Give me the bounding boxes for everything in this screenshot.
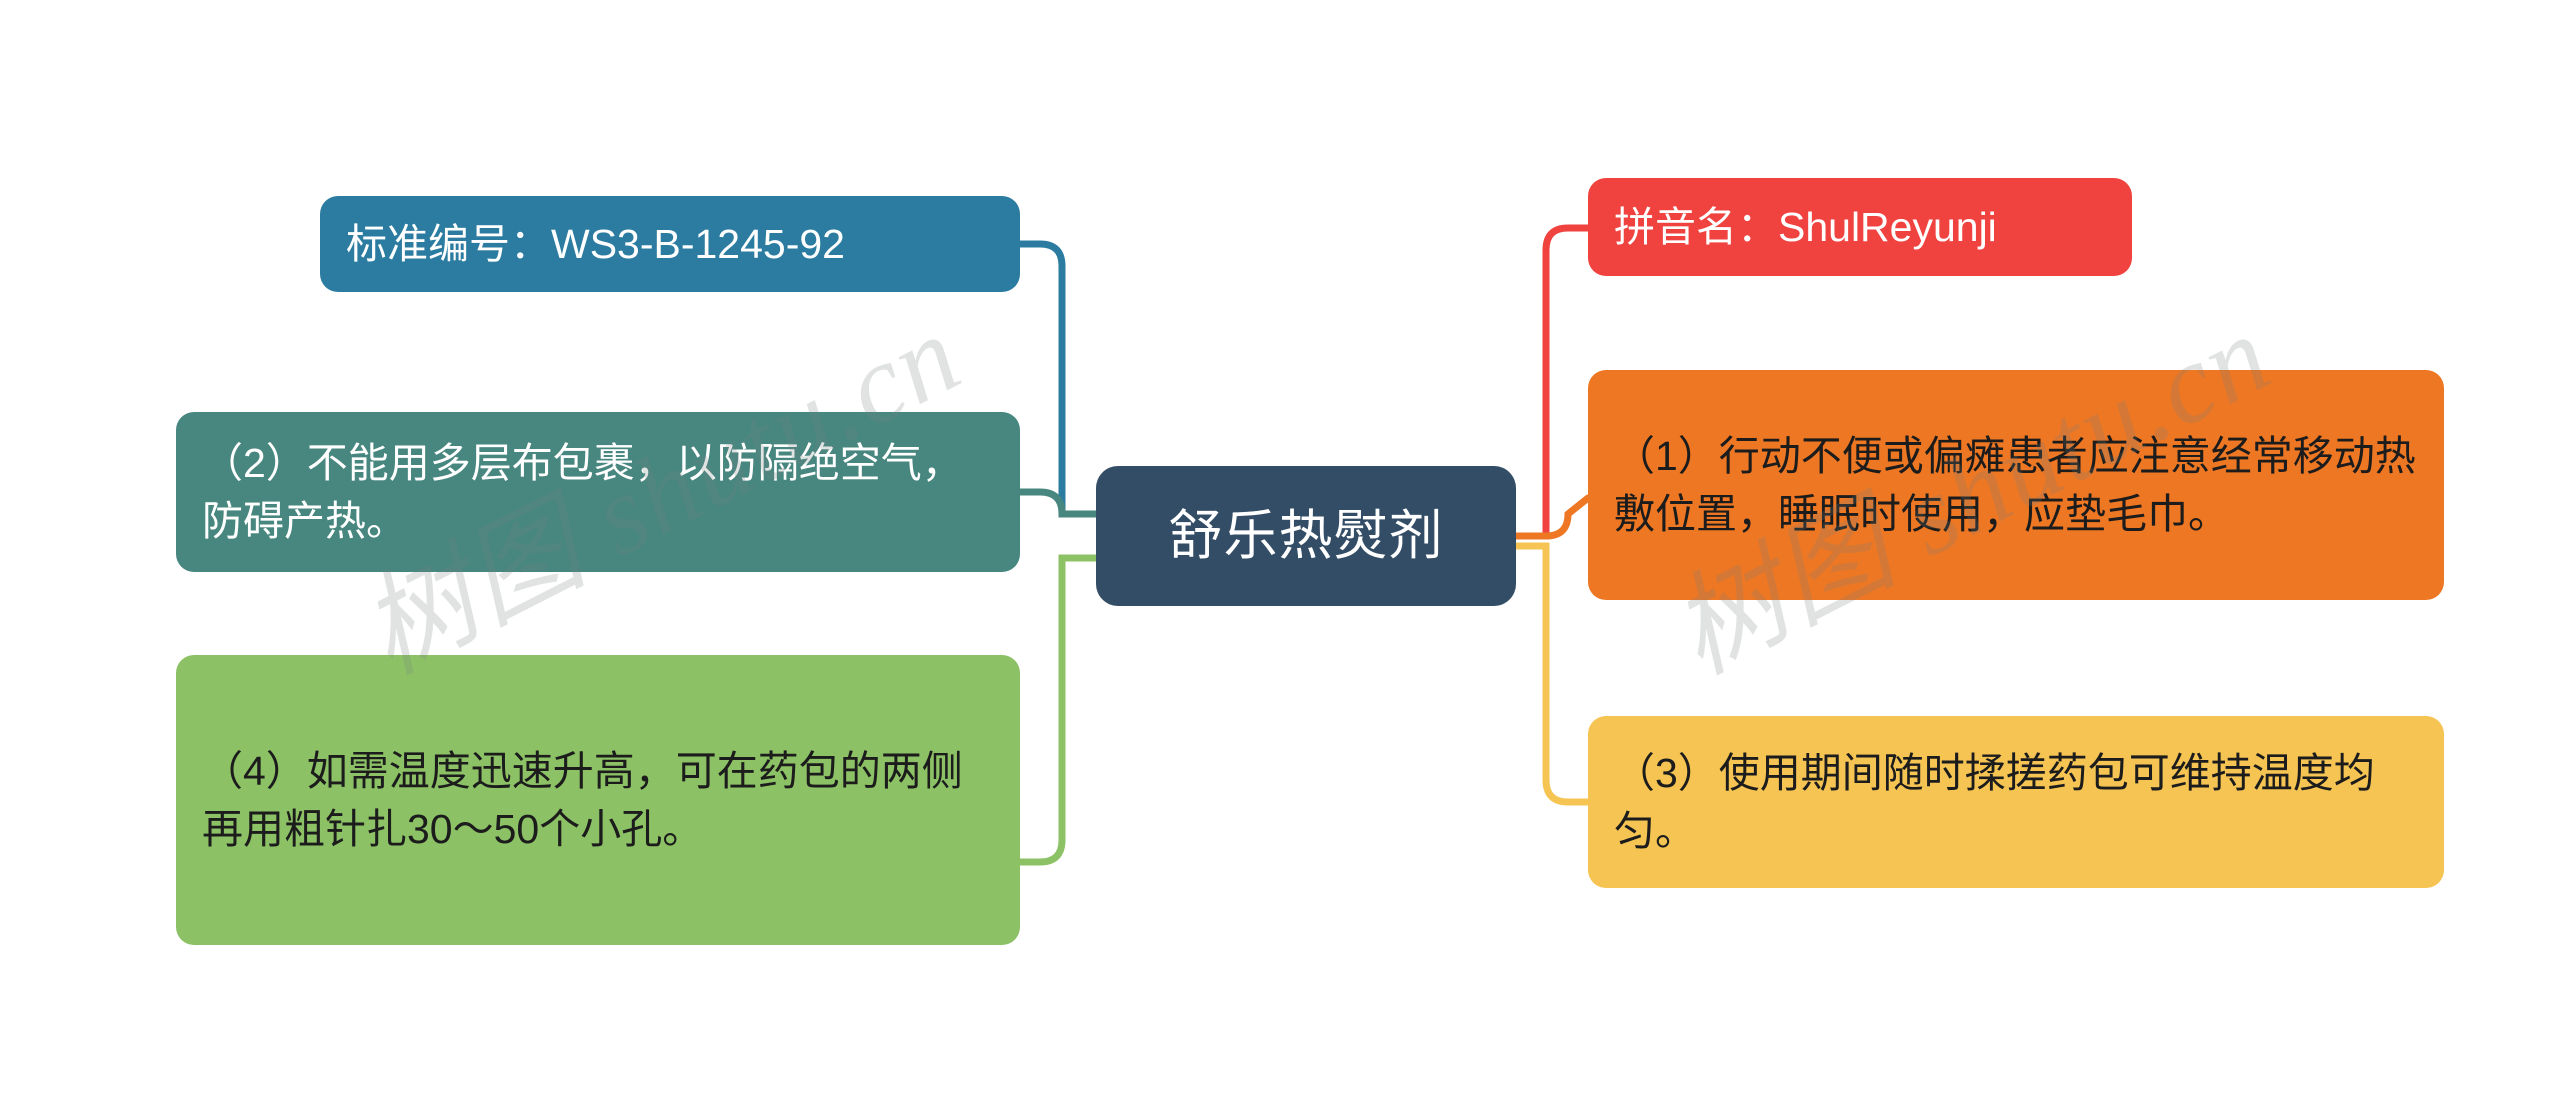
connector-pinyin-name [1516,228,1588,536]
node-note-3[interactable]: （3）使用期间随时揉搓药包可维持温度均匀。 [1588,716,2444,888]
connector-standard-number [1020,244,1096,514]
node-center-topic-label: 舒乐热熨剂 [1096,498,1516,575]
connector-note-3 [1516,546,1588,802]
node-note-4-label: （4）如需温度迅速升高，可在药包的两侧再用粗针扎30～50个小孔。 [202,742,994,858]
node-standard-number[interactable]: 标准编号：WS3-B-1245-92 [320,196,1020,292]
node-center-topic[interactable]: 舒乐热熨剂 [1096,466,1516,606]
node-note-2-label: （2）不能用多层布包裹，以防隔绝空气，防碍产热。 [202,434,994,550]
node-note-3-label: （3）使用期间随时揉搓药包可维持温度均匀。 [1614,744,2418,860]
connector-note-1 [1516,498,1588,536]
node-pinyin-name[interactable]: 拼音名：ShulReyunji [1588,178,2132,276]
node-note-1-label: （1）行动不便或偏瘫患者应注意经常移动热敷位置，睡眠时使用，应垫毛巾。 [1614,427,2418,543]
node-pinyin-name-label: 拼音名：ShulReyunji [1614,198,2106,256]
connector-note-4 [1020,558,1096,862]
node-note-1[interactable]: （1）行动不便或偏瘫患者应注意经常移动热敷位置，睡眠时使用，应垫毛巾。 [1588,370,2444,600]
node-note-2[interactable]: （2）不能用多层布包裹，以防隔绝空气，防碍产热。 [176,412,1020,572]
mindmap-canvas: 标准编号：WS3-B-1245-92 （2）不能用多层布包裹，以防隔绝空气，防碍… [0,0,2560,1095]
connector-note-2 [1020,492,1096,514]
node-note-4[interactable]: （4）如需温度迅速升高，可在药包的两侧再用粗针扎30～50个小孔。 [176,655,1020,945]
node-standard-number-label: 标准编号：WS3-B-1245-92 [346,215,994,273]
